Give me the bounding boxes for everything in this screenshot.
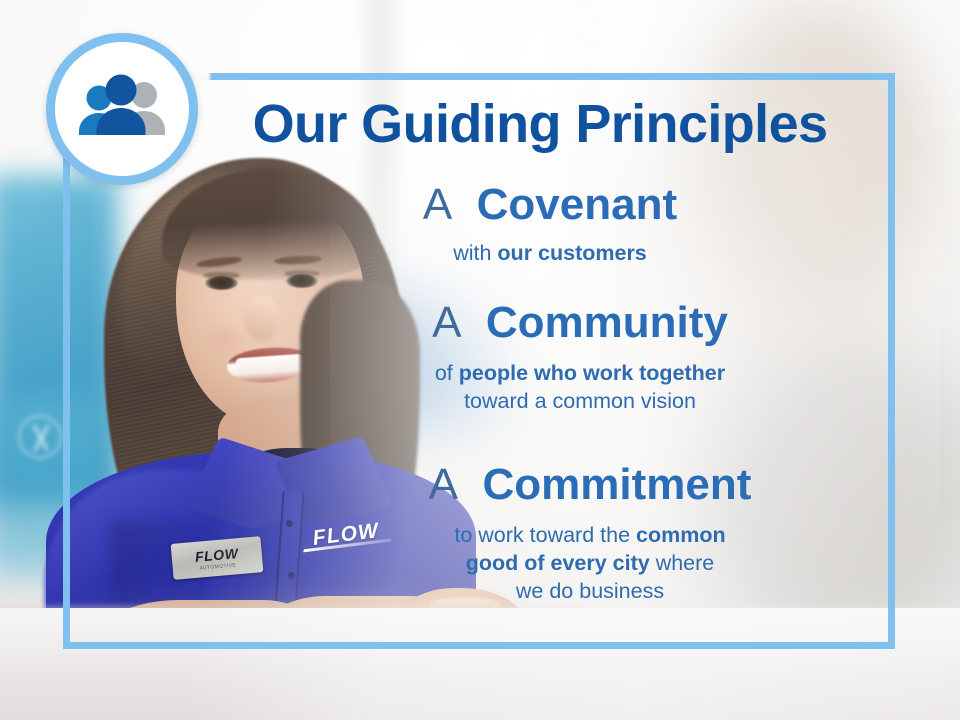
principle-keyword: Commitment	[482, 460, 751, 509]
principle-title-commitment: A Commitment	[290, 462, 890, 509]
guiding-principles-graphic: FLOW FLOW AUTOMOTIVE	[0, 0, 960, 720]
group-badge	[46, 33, 198, 185]
principle-text-regular: toward a common vision	[464, 389, 696, 413]
principle-title-covenant: A Covenant	[250, 182, 850, 229]
principle-block-covenant: A Covenant with our customers	[250, 182, 850, 267]
principle-title-community: A Community	[280, 300, 880, 347]
principle-line: of people who work together	[280, 359, 880, 387]
principle-article: A	[432, 298, 474, 347]
principle-line: to work toward the common	[290, 521, 890, 549]
principle-text-regular: to work toward the	[454, 523, 636, 547]
eye-right	[286, 274, 318, 288]
principle-text-regular: we do business	[516, 579, 664, 603]
principle-text-regular: of	[435, 361, 459, 385]
principle-keyword: Covenant	[477, 180, 677, 229]
principle-text-bold: people who work together	[459, 361, 725, 385]
principle-article: A	[429, 460, 471, 509]
principle-text-regular: with	[453, 241, 497, 265]
page-title: Our Guiding Principles	[210, 96, 870, 152]
principle-line: good of every city where	[290, 549, 890, 577]
principle-block-commitment: A Commitment to work toward the common g…	[290, 462, 890, 606]
principle-article: A	[423, 180, 465, 229]
principle-line: toward a common vision	[280, 387, 880, 415]
desk-surface	[0, 608, 960, 720]
principle-text-bold: common	[636, 523, 726, 547]
eye-left	[205, 276, 238, 290]
principle-description-commitment: to work toward the common good of every …	[290, 521, 890, 606]
principle-text-bold: good of every city	[466, 551, 650, 575]
principle-description-covenant: with our customers	[250, 239, 850, 267]
group-of-people-icon	[74, 73, 170, 145]
principle-description-community: of people who work together toward a com…	[280, 359, 880, 416]
principle-keyword: Community	[486, 298, 728, 347]
principle-text-regular: where	[650, 551, 715, 575]
principle-line: with our customers	[250, 239, 850, 267]
principle-text-bold: our customers	[497, 241, 646, 265]
principle-block-community: A Community of people who work together …	[280, 300, 880, 415]
principle-line: we do business	[290, 577, 890, 605]
